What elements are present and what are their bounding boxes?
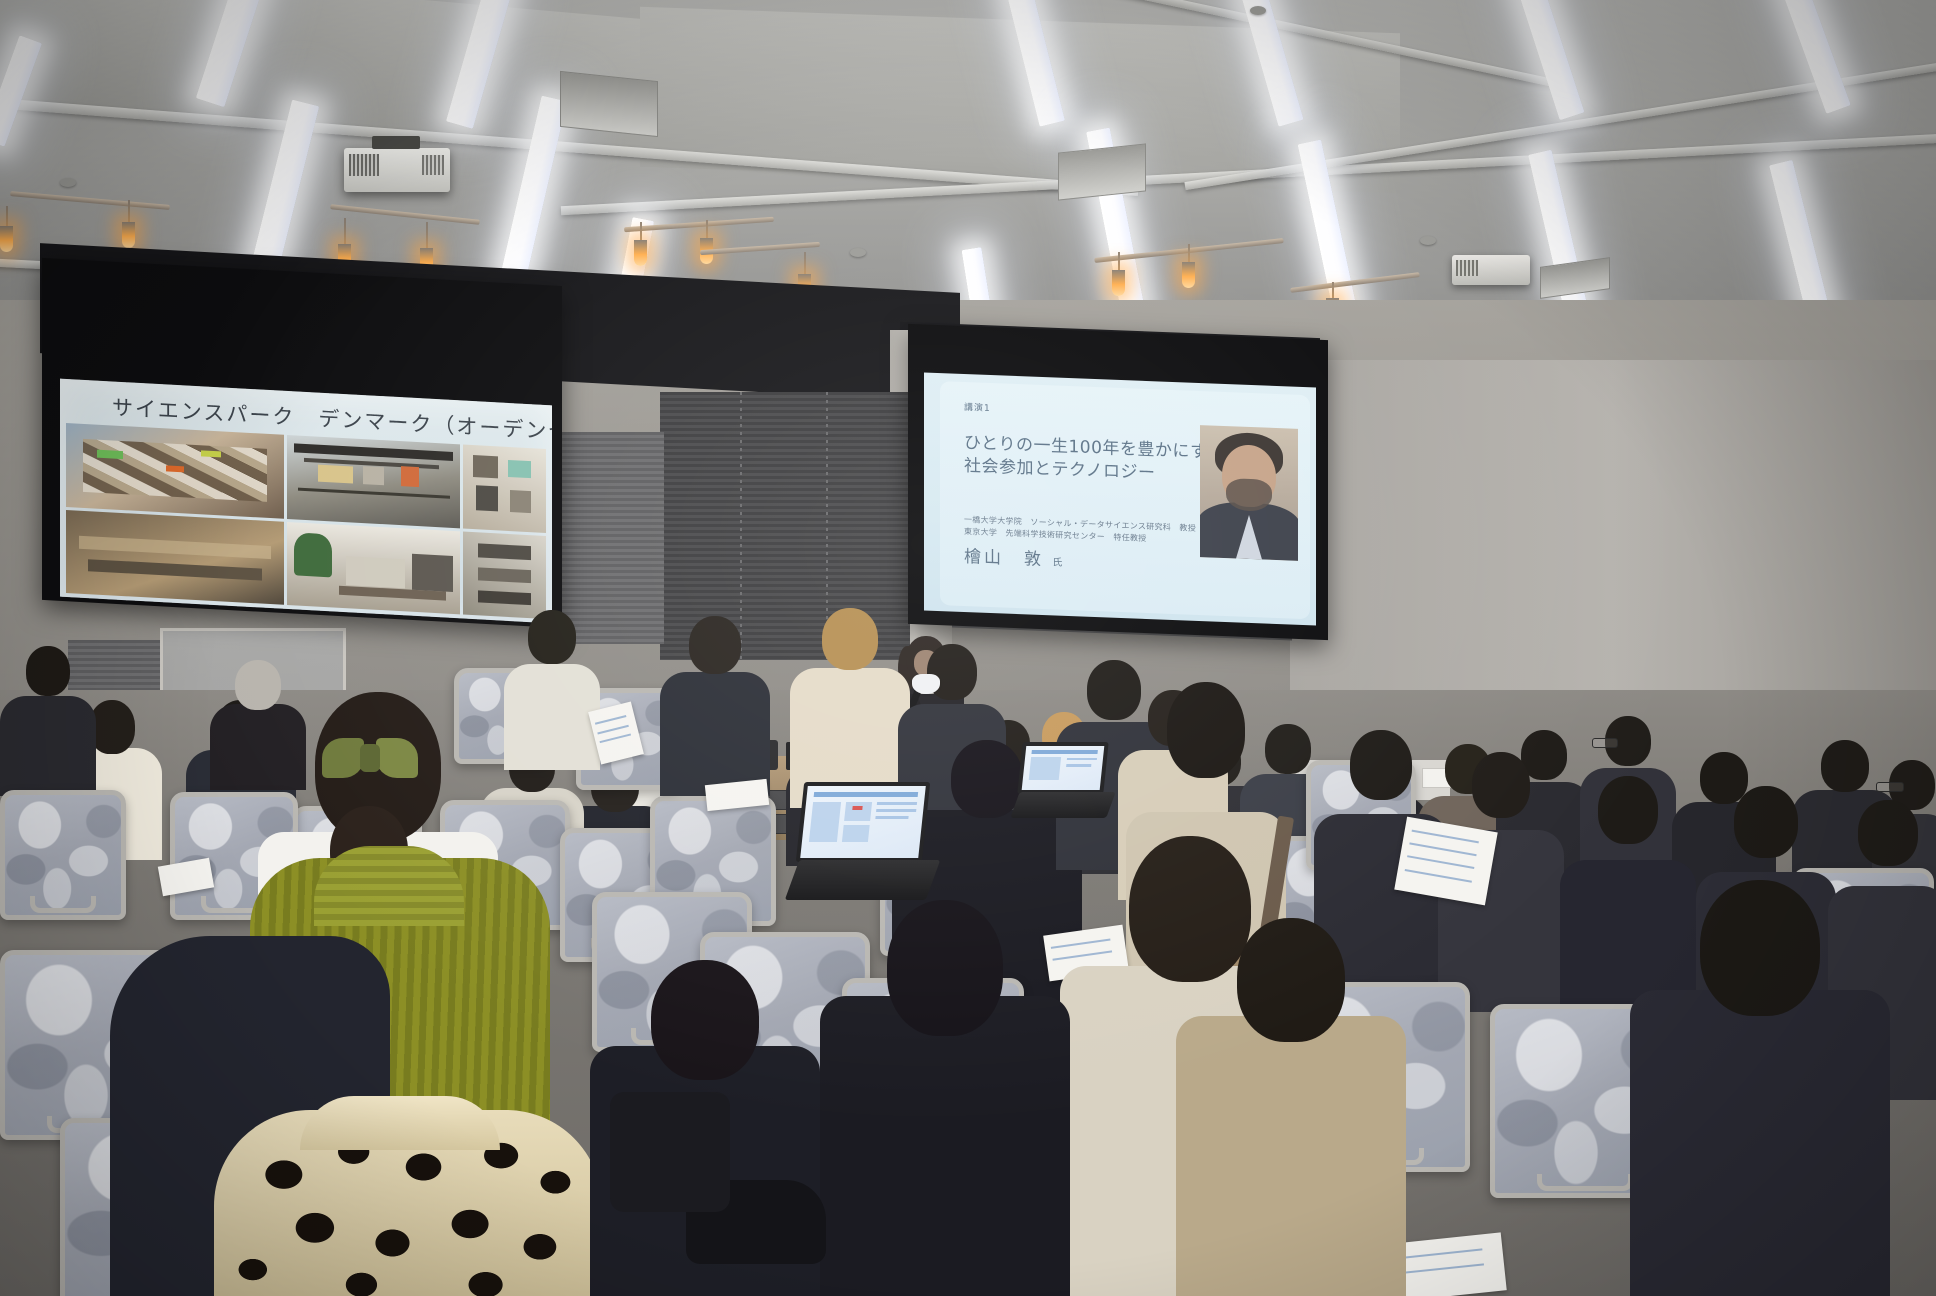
audience-member bbox=[660, 616, 770, 796]
ceiling-projector bbox=[344, 148, 450, 192]
spotlight bbox=[0, 226, 13, 252]
sprinkler-head bbox=[60, 178, 76, 187]
backpack bbox=[610, 1092, 730, 1212]
slide-photo-grid bbox=[66, 423, 546, 619]
hair-bow bbox=[322, 736, 418, 780]
speaker-name: 檜山 敦 bbox=[964, 547, 1044, 570]
speaker-honorific: 氏 bbox=[1052, 557, 1063, 568]
face-mask bbox=[912, 674, 940, 694]
right-wall bbox=[1290, 360, 1936, 690]
laptop[interactable] bbox=[1020, 742, 1106, 818]
air-vent bbox=[1540, 257, 1610, 299]
eyeglasses bbox=[1592, 738, 1618, 748]
eyeglasses bbox=[1876, 782, 1904, 792]
ceiling-light bbox=[1513, 0, 1584, 120]
ceiling-light bbox=[1775, 0, 1851, 114]
audience-member-foreground bbox=[1176, 918, 1406, 1296]
slide-photo bbox=[463, 531, 546, 619]
sprinkler-head bbox=[1250, 6, 1266, 15]
speaker-name-row: 檜山 敦 氏 bbox=[964, 542, 1063, 571]
conference-hall-photo: サイエンスパーク デンマーク（オーデンセ市） bbox=[0, 0, 1936, 1296]
air-vent bbox=[560, 71, 658, 137]
air-vent bbox=[1058, 143, 1146, 200]
laptop[interactable] bbox=[800, 782, 926, 900]
slide-photo bbox=[287, 435, 460, 528]
slide-photo bbox=[287, 521, 460, 614]
ceiling-projector-secondary bbox=[1452, 255, 1530, 285]
audience-member-foreground bbox=[820, 900, 1070, 1296]
projection-screen-left: サイエンスパーク デンマーク（オーデンセ市） bbox=[60, 379, 552, 624]
slide-photo bbox=[66, 423, 284, 518]
spotlight bbox=[634, 240, 647, 266]
slide-photo bbox=[66, 510, 284, 605]
spotlight bbox=[1112, 270, 1125, 296]
handout-paper bbox=[1394, 817, 1497, 906]
spotlight bbox=[1182, 262, 1195, 288]
slide-headline: ひとりの一生100年を豊かにする 社会参加とテクノロジー bbox=[964, 432, 1225, 489]
sprinkler-head bbox=[1420, 236, 1436, 245]
slide-photo bbox=[463, 445, 546, 533]
audience-member bbox=[0, 646, 96, 796]
spotlight bbox=[122, 222, 135, 248]
chair bbox=[0, 790, 116, 910]
handout-paper bbox=[1391, 1232, 1506, 1296]
slide-kicker: 講演1 bbox=[964, 400, 991, 414]
speaker-portrait bbox=[1200, 425, 1298, 561]
audience-member-foreground bbox=[1630, 880, 1890, 1296]
sprinkler-head bbox=[850, 248, 866, 257]
projection-screen-right: 講演1 ひとりの一生100年を豊かにする 社会参加とテクノロジー 一橋大学大学院… bbox=[924, 372, 1316, 625]
audience-member bbox=[504, 610, 600, 770]
fur-coat-collar bbox=[300, 1096, 500, 1150]
